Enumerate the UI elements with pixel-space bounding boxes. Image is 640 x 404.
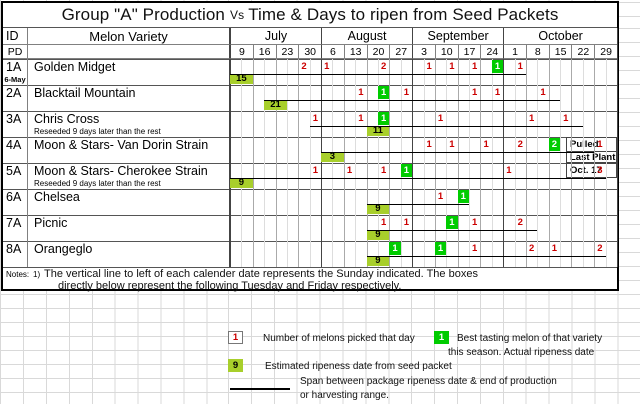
subcell-divider bbox=[446, 241, 447, 267]
week-divider bbox=[321, 241, 322, 267]
subcell-divider bbox=[310, 137, 311, 163]
production-span-line bbox=[367, 256, 606, 257]
seed-packet-ripeness-cell[interactable]: 15 bbox=[230, 74, 253, 84]
week-divider bbox=[276, 215, 277, 241]
subcell-divider bbox=[446, 189, 447, 215]
week-divider bbox=[412, 215, 413, 241]
melons-picked-cell[interactable]: 2 bbox=[526, 242, 537, 255]
week-divider bbox=[344, 189, 345, 215]
week-divider bbox=[549, 189, 550, 215]
row-id-4a: 4A bbox=[3, 137, 28, 152]
subcell-divider bbox=[401, 111, 402, 137]
melons-picked-cell[interactable]: 1 bbox=[435, 112, 446, 125]
week-divider bbox=[230, 241, 231, 267]
week-divider bbox=[321, 163, 322, 189]
page-title: Group "A" Production Vs Time & Days to r… bbox=[3, 3, 617, 28]
week-divider bbox=[230, 137, 231, 163]
melons-picked-cell[interactable]: 1 bbox=[492, 86, 503, 99]
subcell-divider bbox=[583, 215, 584, 241]
melons-picked-cell[interactable]: 1 bbox=[321, 60, 332, 73]
date-header-august-6: 6 bbox=[321, 45, 344, 59]
week-divider bbox=[571, 59, 572, 85]
subcell-divider bbox=[515, 189, 516, 215]
subcell-divider bbox=[446, 163, 447, 189]
week-divider bbox=[298, 137, 299, 163]
table-row[interactable]: 5AMoon & Stars- Cherokee StrainReseeded … bbox=[3, 163, 617, 189]
row-variety-name: Golden Midget bbox=[28, 59, 230, 74]
header-pd: PD bbox=[3, 45, 28, 59]
week-divider bbox=[230, 85, 231, 111]
best-tasting-cell[interactable]: 1 bbox=[492, 60, 503, 73]
legend-best-text-2: this season. Actual ripeness date bbox=[448, 347, 594, 358]
subcell-divider bbox=[332, 241, 333, 267]
melons-picked-cell[interactable]: 1 bbox=[424, 60, 435, 73]
table-row[interactable]: 2ABlacktail Mountain11111121 bbox=[3, 85, 617, 111]
best-tasting-cell[interactable]: 1 bbox=[458, 190, 469, 203]
subcell-divider bbox=[560, 85, 561, 111]
subcell-divider bbox=[515, 241, 516, 267]
week-divider bbox=[298, 241, 299, 267]
row-variety-name: Orangeglo bbox=[28, 241, 230, 256]
week-divider bbox=[344, 111, 345, 137]
row-id-2a: 2A bbox=[3, 85, 28, 100]
notes-line-2: directly below represent the following T… bbox=[58, 280, 401, 292]
week-divider bbox=[594, 189, 595, 215]
subcell-divider bbox=[424, 215, 425, 241]
melons-picked-cell[interactable]: 1 bbox=[310, 164, 321, 177]
week-divider bbox=[526, 85, 527, 111]
week-divider bbox=[412, 241, 413, 267]
melons-picked-cell[interactable]: 2 bbox=[378, 60, 389, 73]
week-divider bbox=[298, 85, 299, 111]
melons-picked-cell[interactable]: 1 bbox=[594, 138, 605, 151]
seed-packet-ripeness-cell[interactable]: 11 bbox=[367, 126, 390, 136]
week-divider bbox=[276, 163, 277, 189]
subcell-divider bbox=[560, 241, 561, 267]
date-header-october-22: 22 bbox=[571, 45, 594, 59]
week-divider bbox=[412, 111, 413, 137]
subcell-divider bbox=[606, 163, 607, 189]
subcell-divider bbox=[515, 111, 516, 137]
week-divider bbox=[344, 85, 345, 111]
melons-picked-cell[interactable]: 1 bbox=[537, 86, 548, 99]
subcell-divider bbox=[560, 137, 561, 163]
row-calendar-area: 111129 bbox=[230, 215, 617, 241]
subcell-divider bbox=[537, 163, 538, 189]
week-divider bbox=[253, 111, 254, 137]
week-divider bbox=[549, 85, 550, 111]
week-divider bbox=[503, 59, 504, 85]
week-divider bbox=[617, 137, 618, 163]
production-span-line bbox=[264, 100, 560, 101]
subcell-divider bbox=[332, 215, 333, 241]
melons-picked-cell[interactable]: 2 bbox=[515, 216, 526, 229]
subcell-divider bbox=[264, 137, 265, 163]
seed-packet-ripeness-cell[interactable]: 9 bbox=[367, 204, 390, 214]
subcell-divider bbox=[492, 189, 493, 215]
subcell-divider bbox=[241, 85, 242, 111]
subcell-divider bbox=[469, 137, 470, 163]
week-divider bbox=[435, 137, 436, 163]
legend-pick-swatch: 1 bbox=[228, 331, 243, 344]
subcell-divider bbox=[515, 85, 516, 111]
week-divider bbox=[526, 59, 527, 85]
subcell-divider bbox=[446, 85, 447, 111]
legend-seed-swatch: 9 bbox=[228, 359, 243, 372]
subcell-divider bbox=[241, 111, 242, 137]
week-divider bbox=[276, 241, 277, 267]
table-row[interactable]: 8AOrangeglo1112129 bbox=[3, 241, 617, 267]
melons-picked-cell[interactable]: 1 bbox=[503, 164, 514, 177]
week-divider bbox=[594, 111, 595, 137]
melons-picked-cell[interactable]: 1 bbox=[401, 216, 412, 229]
week-divider bbox=[549, 59, 550, 85]
best-tasting-cell[interactable]: 1 bbox=[401, 164, 412, 177]
subcell-divider bbox=[310, 215, 311, 241]
subcell-divider bbox=[287, 189, 288, 215]
subcell-divider bbox=[424, 85, 425, 111]
date-header-july-9: 9 bbox=[230, 45, 253, 59]
week-divider bbox=[389, 85, 390, 111]
row-variety-note bbox=[28, 230, 230, 241]
subcell-divider bbox=[264, 111, 265, 137]
production-span-line bbox=[321, 152, 594, 153]
legend-span-text-2: or harvesting range. bbox=[300, 390, 389, 401]
week-divider bbox=[571, 241, 572, 267]
melons-picked-cell[interactable]: 1 bbox=[480, 138, 491, 151]
week-divider bbox=[253, 189, 254, 215]
row-variety-note bbox=[28, 204, 230, 215]
subcell-divider bbox=[606, 111, 607, 137]
row-id-6a: 6A bbox=[3, 189, 28, 204]
week-divider bbox=[458, 111, 459, 137]
month-header-august: August bbox=[321, 28, 412, 45]
week-divider bbox=[526, 137, 527, 163]
week-divider bbox=[298, 189, 299, 215]
week-divider bbox=[503, 111, 504, 137]
week-divider bbox=[298, 111, 299, 137]
row-variety-name: Picnic bbox=[28, 215, 230, 230]
subcell-divider bbox=[537, 111, 538, 137]
table-row[interactable]: 6AChelsea119 bbox=[3, 189, 617, 215]
subcell-divider bbox=[583, 85, 584, 111]
row-variety-name: Chelsea bbox=[28, 189, 230, 204]
subcell-divider bbox=[332, 59, 333, 85]
melons-picked-cell[interactable]: 1 bbox=[401, 86, 412, 99]
subcell-divider bbox=[287, 85, 288, 111]
legend-span-text-1: Span between package ripeness date & end… bbox=[300, 376, 557, 387]
melons-picked-cell[interactable]: 1 bbox=[560, 112, 571, 125]
week-divider bbox=[412, 189, 413, 215]
melons-picked-cell[interactable]: 1 bbox=[469, 86, 480, 99]
subcell-divider bbox=[606, 241, 607, 267]
melons-picked-cell[interactable]: 1 bbox=[526, 112, 537, 125]
week-divider bbox=[367, 163, 368, 189]
week-divider bbox=[458, 85, 459, 111]
week-divider bbox=[344, 59, 345, 85]
week-divider bbox=[230, 111, 231, 137]
week-divider bbox=[389, 189, 390, 215]
week-divider bbox=[298, 215, 299, 241]
melons-picked-cell[interactable]: 1 bbox=[355, 86, 366, 99]
subcell-divider bbox=[355, 241, 356, 267]
date-header-september-24: 24 bbox=[480, 45, 503, 59]
subcell-divider bbox=[355, 137, 356, 163]
row-variety-name: Moon & Stars- Cherokee Strain bbox=[28, 163, 230, 178]
week-divider bbox=[253, 59, 254, 85]
melons-picked-cell[interactable]: 1 bbox=[355, 112, 366, 125]
week-divider bbox=[503, 189, 504, 215]
subcell-divider bbox=[287, 163, 288, 189]
best-tasting-cell[interactable]: 1 bbox=[446, 216, 457, 229]
week-divider bbox=[594, 85, 595, 111]
best-tasting-cell[interactable]: 1 bbox=[435, 242, 446, 255]
row-planting-date-3a bbox=[3, 126, 28, 137]
subcell-divider bbox=[287, 137, 288, 163]
week-divider bbox=[458, 163, 459, 189]
week-divider bbox=[276, 189, 277, 215]
row-calendar-area: 11111121 bbox=[230, 85, 617, 111]
row-variety-name: Moon & Stars- Van Dorin Strain bbox=[28, 137, 230, 152]
subcell-divider bbox=[264, 59, 265, 85]
row-planting-date-2a bbox=[3, 100, 28, 111]
week-divider bbox=[253, 85, 254, 111]
title-part-a: Group "A" Production bbox=[62, 5, 225, 25]
subcell-divider bbox=[537, 215, 538, 241]
week-divider bbox=[617, 111, 618, 137]
subcell-divider bbox=[537, 241, 538, 267]
row-planting-date-8a bbox=[3, 256, 28, 267]
seed-packet-ripeness-cell[interactable]: 9 bbox=[367, 230, 390, 240]
subcell-divider bbox=[560, 189, 561, 215]
subcell-divider bbox=[241, 241, 242, 267]
week-divider bbox=[617, 59, 618, 85]
row-variety-note bbox=[28, 152, 230, 163]
row-planting-date-6a bbox=[3, 204, 28, 215]
subcell-divider bbox=[606, 215, 607, 241]
row-variety-name: Blacktail Mountain bbox=[28, 85, 230, 100]
subcell-divider bbox=[287, 215, 288, 241]
week-divider bbox=[503, 85, 504, 111]
week-divider bbox=[367, 85, 368, 111]
week-divider bbox=[367, 59, 368, 85]
production-span-line bbox=[367, 230, 538, 231]
best-tasting-cell[interactable]: 1 bbox=[378, 86, 389, 99]
subcell-divider bbox=[355, 189, 356, 215]
table-row[interactable]: 4AMoon & Stars- Van Dorin Strain1112213 bbox=[3, 137, 617, 163]
production-span-line bbox=[230, 178, 606, 179]
date-header-september-3: 3 bbox=[412, 45, 435, 59]
subcell-divider bbox=[583, 241, 584, 267]
subcell-divider bbox=[560, 163, 561, 189]
subcell-divider bbox=[332, 163, 333, 189]
melons-picked-cell[interactable]: 3 bbox=[594, 164, 605, 177]
subcell-divider bbox=[492, 111, 493, 137]
row-calendar-area: 1112129 bbox=[230, 241, 617, 267]
notes-block: Notes: 1) The vertical line to left of e… bbox=[3, 267, 617, 291]
subcell-divider bbox=[401, 189, 402, 215]
week-divider bbox=[344, 241, 345, 267]
week-divider bbox=[389, 59, 390, 85]
row-variety-note: Reseeded 9 days later than the rest bbox=[28, 126, 230, 137]
subcell-divider bbox=[469, 111, 470, 137]
month-header-july: July bbox=[230, 28, 321, 45]
date-header-september-17: 17 bbox=[458, 45, 481, 59]
date-header-october-1: 1 bbox=[503, 45, 526, 59]
subcell-divider bbox=[310, 241, 311, 267]
week-divider bbox=[230, 215, 231, 241]
row-id-3a: 3A bbox=[3, 111, 28, 126]
subcell-divider bbox=[287, 241, 288, 267]
week-divider bbox=[412, 59, 413, 85]
table-row[interactable]: 1A6-MayGolden Midget2121111115 bbox=[3, 59, 617, 85]
subcell-divider bbox=[537, 137, 538, 163]
table-row[interactable]: 3AChris CrossReseeded 9 days later than … bbox=[3, 111, 617, 137]
week-divider bbox=[594, 59, 595, 85]
melons-picked-cell[interactable]: 1 bbox=[549, 242, 560, 255]
subcell-divider bbox=[424, 111, 425, 137]
week-divider bbox=[344, 215, 345, 241]
table-row[interactable]: 7APicnic111129 bbox=[3, 215, 617, 241]
subcell-divider bbox=[560, 215, 561, 241]
subcell-divider bbox=[287, 111, 288, 137]
seed-packet-ripeness-cell[interactable]: 3 bbox=[321, 152, 344, 162]
subcell-divider bbox=[310, 85, 311, 111]
legend-best-text-1: Best tasting melon of that variety bbox=[457, 333, 602, 344]
best-tasting-cell[interactable]: 1 bbox=[389, 242, 400, 255]
row-planting-date-7a bbox=[3, 230, 28, 241]
week-divider bbox=[458, 137, 459, 163]
seed-packet-ripeness-cell[interactable]: 21 bbox=[264, 100, 287, 110]
row-variety-note bbox=[28, 256, 230, 267]
subcell-divider bbox=[492, 215, 493, 241]
subcell-divider bbox=[424, 189, 425, 215]
date-header-october-8: 8 bbox=[526, 45, 549, 59]
subcell-divider bbox=[264, 189, 265, 215]
row-calendar-area: 1111139 bbox=[230, 163, 617, 189]
subcell-divider bbox=[492, 163, 493, 189]
subcell-divider bbox=[264, 163, 265, 189]
week-divider bbox=[276, 111, 277, 137]
week-divider bbox=[571, 163, 572, 189]
melons-picked-cell[interactable]: 1 bbox=[310, 112, 321, 125]
legend-seed-text: Estimated ripeness date from seed packet bbox=[265, 361, 452, 372]
subcell-divider bbox=[583, 111, 584, 137]
week-divider bbox=[321, 215, 322, 241]
week-divider bbox=[617, 163, 618, 189]
production-span-line bbox=[310, 126, 583, 127]
data-rows-host: 1A6-MayGolden Midget21211111152ABlacktai… bbox=[3, 59, 617, 267]
week-divider bbox=[549, 111, 550, 137]
melons-picked-cell[interactable]: 1 bbox=[446, 60, 457, 73]
week-divider bbox=[503, 137, 504, 163]
row-planting-date-1a: 6-May bbox=[3, 74, 28, 85]
subcell-divider bbox=[241, 215, 242, 241]
best-tasting-cell[interactable]: 1 bbox=[378, 112, 389, 125]
date-header-october-29: 29 bbox=[594, 45, 617, 59]
week-divider bbox=[571, 189, 572, 215]
week-divider bbox=[480, 85, 481, 111]
melons-picked-cell[interactable]: 1 bbox=[378, 216, 389, 229]
date-header-july-16: 16 bbox=[253, 45, 276, 59]
week-divider bbox=[389, 163, 390, 189]
melons-picked-cell[interactable]: 1 bbox=[469, 60, 480, 73]
week-divider bbox=[253, 215, 254, 241]
week-divider bbox=[549, 163, 550, 189]
week-divider bbox=[503, 215, 504, 241]
melons-picked-cell[interactable]: 1 bbox=[469, 242, 480, 255]
subcell-divider bbox=[264, 215, 265, 241]
date-header-august-27: 27 bbox=[389, 45, 412, 59]
melons-picked-cell[interactable]: 1 bbox=[378, 164, 389, 177]
subcell-divider bbox=[515, 163, 516, 189]
week-divider bbox=[435, 163, 436, 189]
subcell-divider bbox=[537, 59, 538, 85]
subcell-divider bbox=[583, 137, 584, 163]
week-divider bbox=[617, 215, 618, 241]
subcell-divider bbox=[583, 189, 584, 215]
melons-picked-cell[interactable]: 1 bbox=[344, 164, 355, 177]
subcell-divider bbox=[287, 59, 288, 85]
subcell-divider bbox=[332, 189, 333, 215]
week-divider bbox=[344, 137, 345, 163]
header-row-months: ID Melon Variety JulyAugustSeptemberOcto… bbox=[3, 28, 617, 45]
subcell-divider bbox=[492, 137, 493, 163]
production-span-line bbox=[230, 74, 526, 75]
week-divider bbox=[480, 111, 481, 137]
week-divider bbox=[389, 215, 390, 241]
week-divider bbox=[458, 241, 459, 267]
seed-packet-ripeness-cell[interactable]: 9 bbox=[230, 178, 253, 188]
week-divider bbox=[549, 215, 550, 241]
melons-picked-cell[interactable]: 1 bbox=[435, 190, 446, 203]
subcell-divider bbox=[537, 189, 538, 215]
row-calendar-area: 2121111115 bbox=[230, 59, 617, 85]
subcell-divider bbox=[355, 163, 356, 189]
month-header-host: JulyAugustSeptemberOctober bbox=[230, 28, 617, 45]
week-divider bbox=[480, 163, 481, 189]
subcell-divider bbox=[332, 85, 333, 111]
date-header-october-15: 15 bbox=[549, 45, 572, 59]
seed-packet-ripeness-cell[interactable]: 9 bbox=[367, 256, 390, 266]
best-tasting-cell[interactable]: 2 bbox=[549, 138, 560, 151]
week-divider bbox=[526, 189, 527, 215]
subcell-divider bbox=[583, 163, 584, 189]
week-divider bbox=[617, 241, 618, 267]
row-variety-note bbox=[28, 74, 230, 85]
subcell-divider bbox=[583, 59, 584, 85]
date-header-july-30: 30 bbox=[298, 45, 321, 59]
week-divider bbox=[367, 137, 368, 163]
date-header-september-10: 10 bbox=[435, 45, 458, 59]
notes-line-1: The vertical line to left of each calend… bbox=[44, 268, 478, 280]
melons-picked-cell[interactable]: 2 bbox=[594, 242, 605, 255]
subcell-divider bbox=[606, 189, 607, 215]
row-id-8a: 8A bbox=[3, 241, 28, 256]
melons-picked-cell[interactable]: 1 bbox=[469, 216, 480, 229]
melons-picked-cell[interactable]: 1 bbox=[446, 138, 457, 151]
melons-picked-cell[interactable]: 2 bbox=[515, 138, 526, 151]
row-planting-date-5a bbox=[3, 178, 28, 189]
week-divider bbox=[526, 163, 527, 189]
melons-picked-cell[interactable]: 1 bbox=[424, 138, 435, 151]
week-divider bbox=[321, 189, 322, 215]
subcell-divider bbox=[424, 241, 425, 267]
week-divider bbox=[480, 59, 481, 85]
week-divider bbox=[412, 137, 413, 163]
melons-picked-cell[interactable]: 2 bbox=[298, 60, 309, 73]
melons-picked-cell[interactable]: 1 bbox=[515, 60, 526, 73]
